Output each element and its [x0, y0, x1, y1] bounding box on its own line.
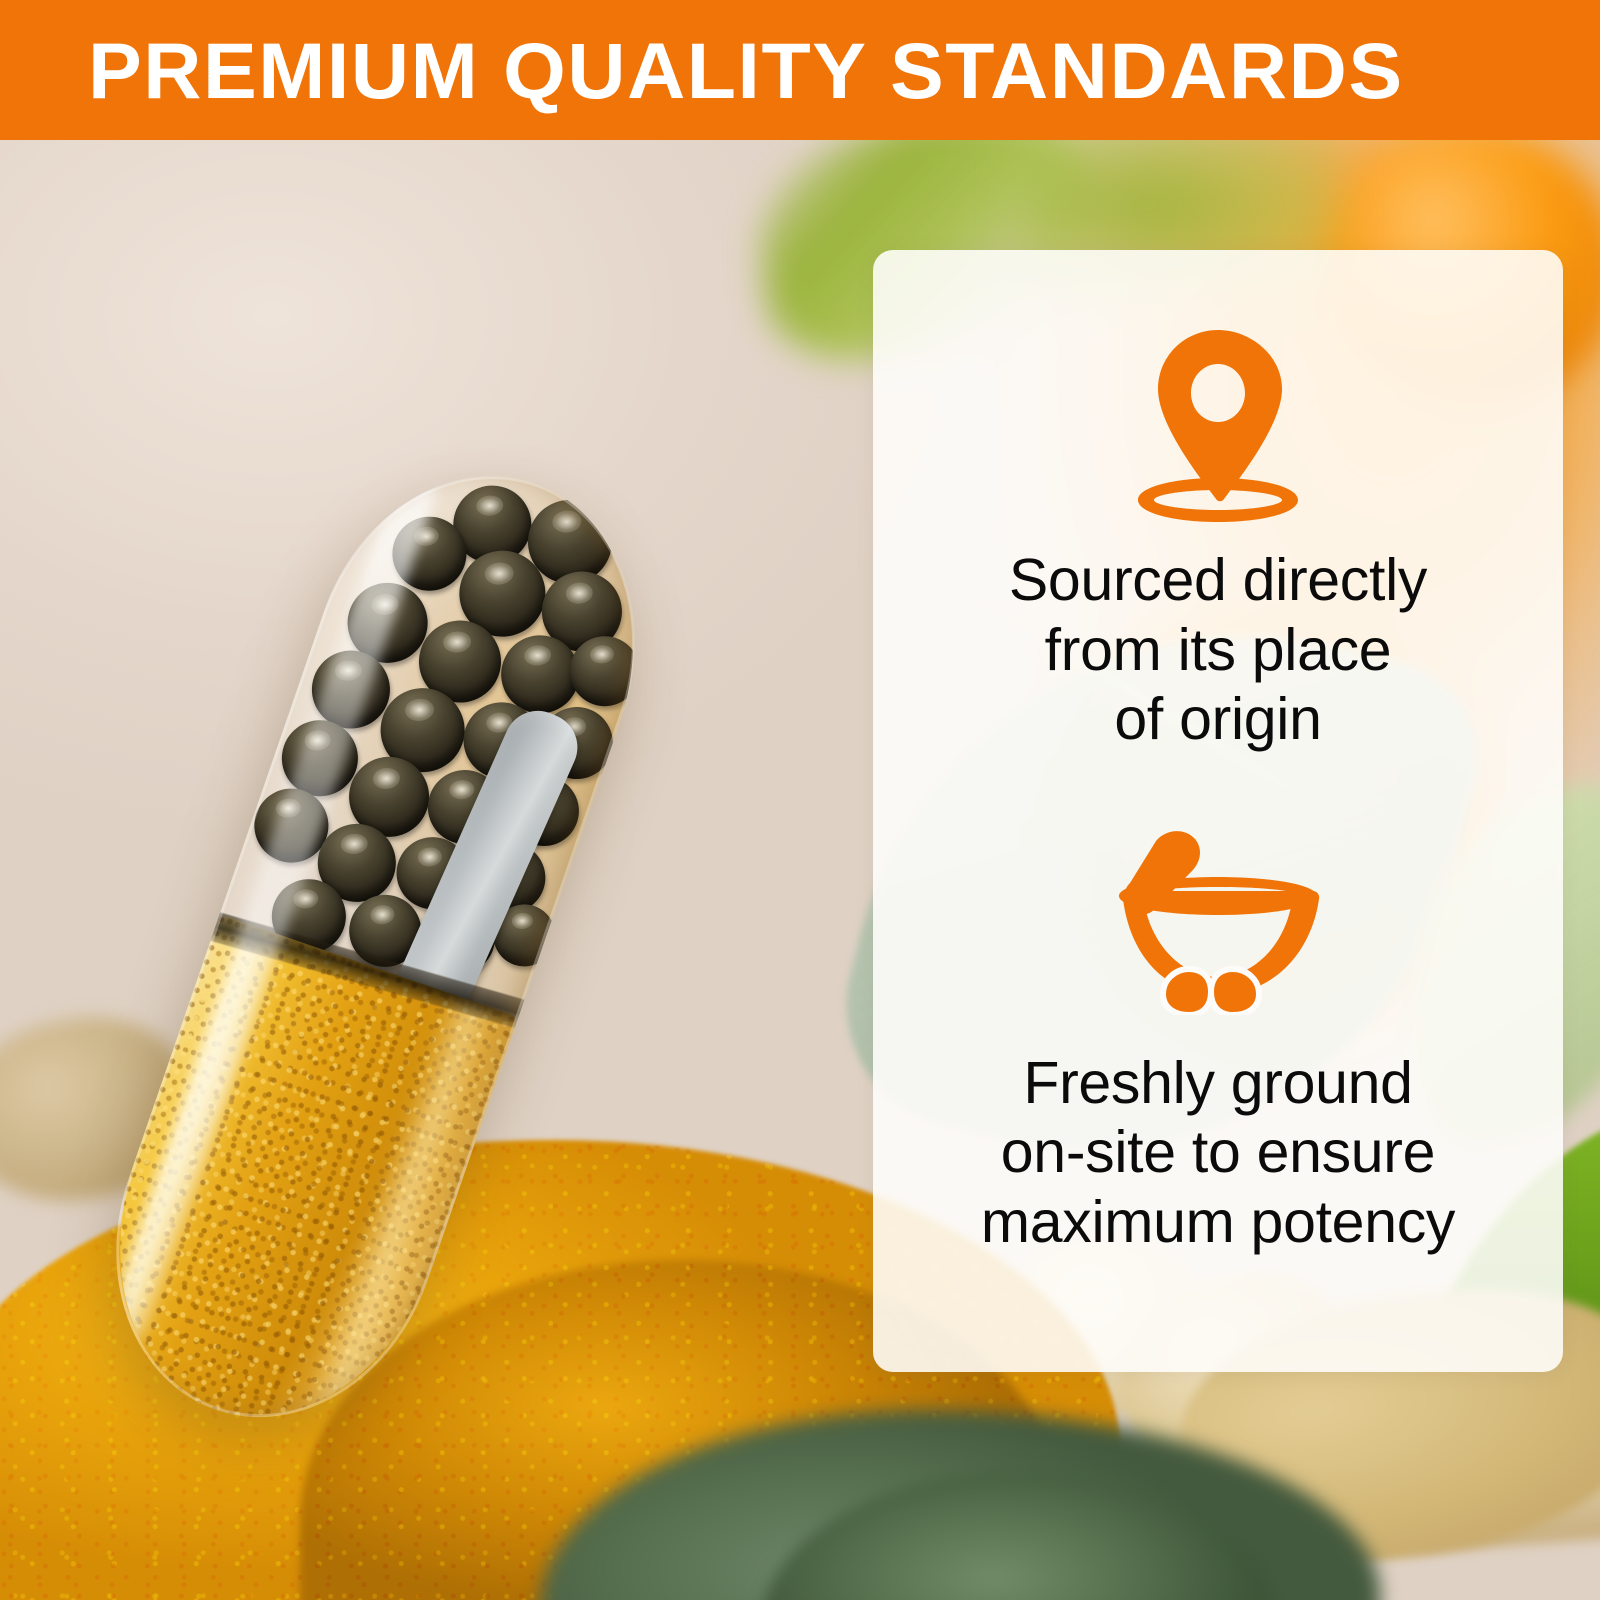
- mortar-and-pestle-icon: [1093, 819, 1343, 1015]
- page-title: PREMIUM QUALITY STANDARDS: [88, 31, 1404, 110]
- feature-text: Freshly ground on-site to ensure maximum…: [981, 1049, 1455, 1258]
- feature-text: Sourced directly from its place of origi…: [1009, 546, 1427, 755]
- feature-sourced-directly: Sourced directly from its place of origi…: [873, 326, 1563, 755]
- feature-freshly-ground: Freshly ground on-site to ensure maximum…: [873, 819, 1563, 1258]
- header-banner: PREMIUM QUALITY STANDARDS: [0, 0, 1600, 140]
- product-infographic: PREMIUM QUALITY STANDARDS Sourced direct…: [0, 0, 1600, 1600]
- location-pin-icon: [1130, 326, 1306, 522]
- features-card: Sourced directly from its place of origi…: [873, 250, 1563, 1372]
